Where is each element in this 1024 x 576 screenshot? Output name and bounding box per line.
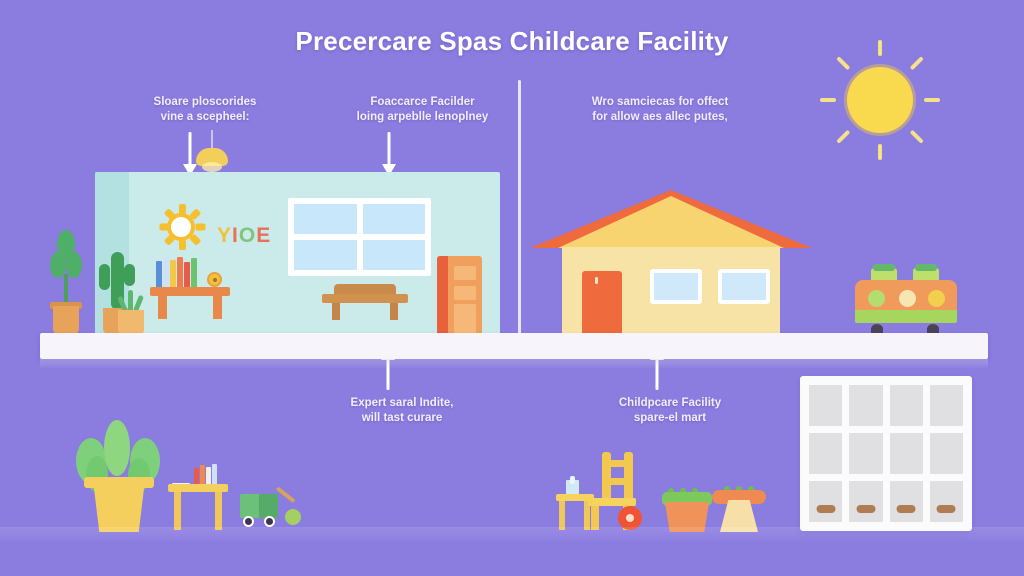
house-body (562, 247, 780, 334)
stool-leg (559, 501, 565, 530)
small-cactus-plant (112, 282, 150, 334)
chair-rail (602, 478, 633, 485)
annotation-top-middle: Foaccarce Facilder loing arpeblle lenopl… (325, 95, 520, 125)
table-top (150, 287, 230, 296)
wagon-wheel (264, 516, 275, 527)
sun-ray (878, 144, 882, 160)
childcare-house (540, 190, 802, 334)
lamp-cord (211, 130, 213, 150)
cactus-blade (128, 290, 133, 312)
door-knob-icon (595, 277, 598, 284)
wall-sun-point (160, 224, 170, 231)
wall-letter: I (232, 224, 239, 247)
cabinet-drawer (454, 266, 476, 280)
plant-pad (104, 420, 130, 476)
sun-disc (847, 67, 913, 133)
pot (53, 306, 79, 334)
table-leg (174, 492, 181, 530)
cubby-drawer[interactable] (849, 481, 882, 522)
cabinet-spine (437, 256, 448, 334)
sunflower-decor (207, 272, 222, 287)
sun-ray (878, 40, 882, 56)
book (156, 261, 162, 287)
wall-sun-point (189, 234, 201, 246)
wall-sun-point (179, 204, 186, 214)
classroom-window (288, 198, 431, 276)
ground-bar (40, 333, 988, 359)
hanging-lamp (192, 130, 232, 174)
pedestal-planter (712, 478, 766, 532)
bench (322, 284, 408, 320)
pot (90, 484, 148, 532)
house-window (718, 269, 770, 304)
sun-ray (836, 56, 850, 70)
ground-reflection (40, 359, 988, 369)
cubby-cell[interactable] (930, 385, 963, 426)
classroom-scene: YIOE (95, 172, 500, 334)
book (184, 262, 190, 287)
window-panes (294, 204, 425, 270)
wagon-ball (285, 509, 301, 525)
wagon-wheel (243, 516, 254, 527)
vertical-divider (518, 80, 521, 342)
ball-dot (626, 514, 634, 522)
table-leg (158, 296, 167, 319)
leaf (57, 230, 75, 260)
chair-seat (588, 498, 636, 506)
annotation-top-right: Wro samciecas for offect for allow aes a… (560, 95, 760, 125)
pot (118, 310, 144, 334)
cubby-shelf (800, 376, 972, 531)
wall-sun-point (196, 224, 206, 231)
toy-wagon (240, 492, 302, 530)
arrow-shaft (388, 132, 391, 168)
annotation-bottom-right: Childpcare Facility spare-el mart (580, 396, 760, 426)
wall-letter: O (239, 224, 256, 247)
window-pane (363, 240, 426, 270)
sun-ray (820, 98, 836, 102)
small-table-with-books (168, 462, 228, 530)
cabinet-drawer (454, 286, 476, 300)
wall-sun-point (179, 240, 186, 250)
house-door (582, 271, 622, 334)
annotation-top-left: Sloare ploscorides vine a scepheel: (110, 95, 300, 125)
house-gable (558, 196, 784, 248)
book (170, 260, 176, 287)
cabinet-door (454, 304, 476, 334)
floor-reflection (0, 527, 1024, 543)
illustration-canvas: Precercare Spas Childcare Facility Sloar… (0, 0, 1024, 576)
bench-leg (332, 303, 340, 320)
sun-ray (924, 98, 940, 102)
lamp-glow (202, 162, 222, 172)
cactus-arm (99, 264, 110, 290)
wall-letters: YIOE (217, 224, 271, 248)
book (163, 257, 169, 287)
sun-ray (910, 130, 924, 144)
cubby-drawer[interactable] (930, 481, 963, 522)
wall-sun-decal-icon (158, 204, 204, 250)
potted-tree (48, 218, 84, 334)
cubby-cell[interactable] (890, 433, 923, 474)
annotation-bottom-left: Expert saral Indite, will tast curare (312, 396, 492, 426)
cubby-cell[interactable] (849, 433, 882, 474)
sun-icon (820, 40, 940, 160)
book (191, 258, 197, 287)
table-leg (213, 296, 222, 319)
trunk (64, 274, 68, 304)
sun-ray (836, 130, 850, 144)
window-pane (363, 204, 426, 234)
cubby-cell[interactable] (809, 433, 842, 474)
table-leg (215, 492, 222, 530)
toy-bus (855, 258, 957, 334)
wall-letter: E (256, 224, 271, 247)
storage-cabinet (437, 256, 482, 334)
bench-seat (322, 294, 408, 303)
window-pane (294, 204, 357, 234)
large-cactus-plant (72, 420, 166, 532)
bus-stripe (855, 310, 957, 323)
bus-port (899, 290, 916, 307)
book-table (150, 265, 230, 319)
cubby-cell[interactable] (809, 385, 842, 426)
wagon-cart-shade (259, 494, 278, 518)
wall-letter: Y (217, 224, 232, 247)
sun-ray (910, 56, 924, 70)
bus-port (928, 290, 945, 307)
cubby-drawer[interactable] (890, 481, 923, 522)
cubby-grid (809, 385, 963, 522)
book (177, 257, 183, 287)
window-pane (294, 240, 357, 270)
cubby-drawer[interactable] (809, 481, 842, 522)
orange-planter (660, 486, 714, 532)
cubby-cell[interactable] (930, 433, 963, 474)
cubby-cell[interactable] (849, 385, 882, 426)
cubby-cell[interactable] (890, 385, 923, 426)
bus-port (868, 290, 885, 307)
chair-rail (602, 460, 633, 467)
table-top (168, 484, 228, 492)
bench-leg (390, 303, 398, 320)
house-window (650, 269, 702, 304)
wagon-handle (276, 486, 296, 503)
